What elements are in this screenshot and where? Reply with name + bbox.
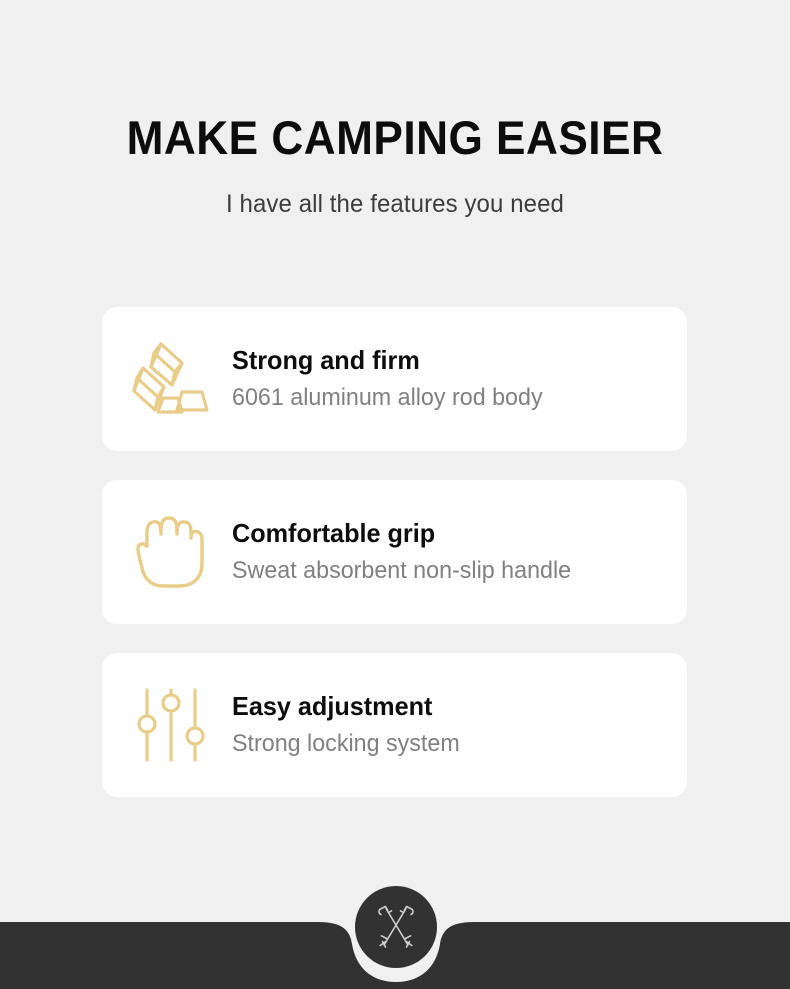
sliders-icon [102, 653, 228, 797]
feature-card-list: Strong and firm 6061 aluminum alloy rod … [102, 307, 687, 826]
feature-card-title: Comfortable grip [232, 518, 571, 549]
feature-card: Comfortable grip Sweat absorbent non-sli… [102, 480, 687, 624]
feature-card-description: Sweat absorbent non-slip handle [232, 549, 571, 586]
feature-card-description: Strong locking system [232, 722, 460, 759]
feature-card-title: Strong and firm [232, 345, 543, 376]
page-title: MAKE CAMPING EASIER [24, 113, 767, 162]
feature-card-description: 6061 aluminum alloy rod body [232, 376, 543, 413]
page-subtitle: I have all the features you need [16, 162, 774, 219]
feature-card-title: Easy adjustment [232, 691, 460, 722]
feature-card-text: Comfortable grip Sweat absorbent non-sli… [228, 518, 582, 586]
feature-card: Easy adjustment Strong locking system [102, 653, 687, 797]
feature-card-text: Strong and firm 6061 aluminum alloy rod … [228, 345, 552, 413]
crossed-trekking-poles-icon [368, 899, 424, 955]
page-header: MAKE CAMPING EASIER I have all the featu… [0, 113, 790, 219]
feature-card-text: Easy adjustment Strong locking system [228, 691, 467, 759]
feature-card: Strong and firm 6061 aluminum alloy rod … [102, 307, 687, 451]
gold-bars-icon [102, 307, 228, 451]
grip-hand-icon [102, 480, 228, 624]
product-feature-page: MAKE CAMPING EASIER I have all the featu… [0, 0, 790, 989]
brand-badge [355, 886, 437, 968]
